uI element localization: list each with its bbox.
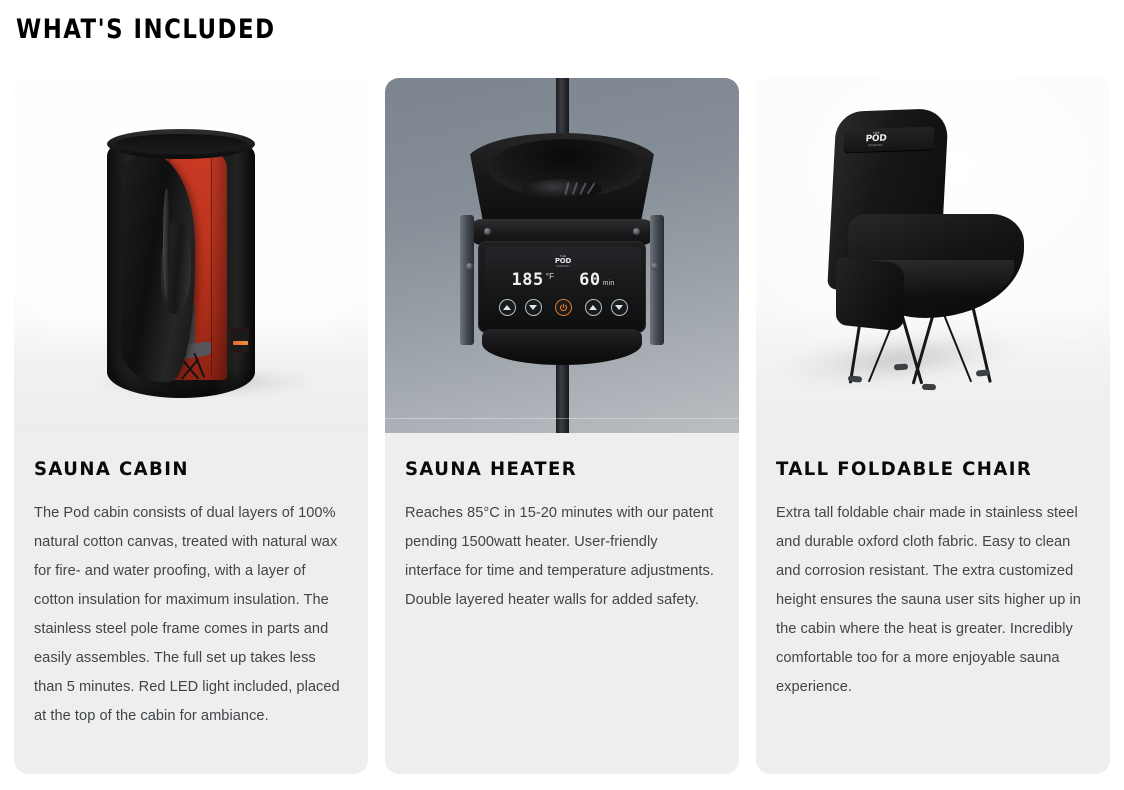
product-card-sauna-heater: THE POD COMPANY 185 °F 60 xyxy=(385,78,739,774)
chevron-up-icon xyxy=(503,305,511,310)
heater-button-row xyxy=(485,299,641,316)
chevron-up-icon xyxy=(589,305,597,310)
temperature-unit: °F xyxy=(546,272,555,281)
whats-included-section: WHAT'S INCLUDED xyxy=(0,0,1124,790)
temp-up-button[interactable] xyxy=(499,299,516,316)
cabin-top-rim xyxy=(107,129,255,159)
heater-brand-logo: THE POD COMPANY xyxy=(548,254,578,266)
sauna-heater-illustration: THE POD COMPANY 185 °F 60 xyxy=(462,133,662,368)
chair-foot xyxy=(894,364,908,371)
heater-brand-main: POD xyxy=(548,258,578,265)
floor-line xyxy=(385,418,739,419)
product-card-sauna-cabin: SAUNA CABIN The Pod cabin consists of du… xyxy=(14,78,368,774)
timer-unit: min xyxy=(603,280,615,287)
card-body: TALL FOLDABLE CHAIR Extra tall foldable … xyxy=(756,433,1110,774)
sauna-heater-image: THE POD COMPANY 185 °F 60 xyxy=(385,78,739,433)
chair-foot xyxy=(922,384,936,390)
heater-side-rail-left xyxy=(460,215,474,345)
cabin-door-flap xyxy=(121,154,195,382)
product-card-list: SAUNA CABIN The Pod cabin consists of du… xyxy=(14,78,1110,774)
page-title: WHAT'S INCLUDED xyxy=(16,13,276,47)
temperature-value: 185 xyxy=(511,271,543,289)
temp-down-button[interactable] xyxy=(525,299,542,316)
tall-foldable-chair-image: THE POD COMPANY xyxy=(756,78,1110,433)
power-icon xyxy=(559,303,568,312)
card-body: SAUNA HEATER Reaches 85°C in 15-20 minut… xyxy=(385,433,739,774)
card-title-sauna-heater: SAUNA HEATER xyxy=(405,457,703,481)
chair-side-pocket xyxy=(836,256,904,331)
chair-brand-logo: THE POD COMPANY xyxy=(853,130,898,149)
cabin-top-opening xyxy=(115,134,247,154)
heater-display-screen: THE POD COMPANY 185 °F 60 xyxy=(485,247,641,329)
card-description-tall-foldable-chair: Extra tall foldable chair made in stainl… xyxy=(776,499,1088,702)
screw-icon xyxy=(466,263,473,270)
card-description-sauna-heater: Reaches 85°C in 15-20 minutes with our p… xyxy=(405,499,717,615)
screw-icon xyxy=(484,228,491,235)
screw-icon xyxy=(651,263,658,270)
sauna-cabin-image xyxy=(14,78,368,433)
power-button[interactable] xyxy=(555,299,572,316)
chevron-down-icon xyxy=(529,305,537,310)
card-description-sauna-cabin: The Pod cabin consists of dual layers of… xyxy=(34,499,346,731)
card-title-sauna-cabin: SAUNA CABIN xyxy=(34,457,332,481)
product-card-tall-foldable-chair: THE POD COMPANY TALL FOLDABLE CHAIR Extr… xyxy=(756,78,1110,774)
chevron-down-icon xyxy=(615,305,623,310)
heater-brand-sub: COMPANY xyxy=(548,265,578,268)
card-body: SAUNA CABIN The Pod cabin consists of du… xyxy=(14,433,368,774)
screw-icon xyxy=(633,228,640,235)
time-down-button[interactable] xyxy=(611,299,628,316)
foldable-chair-illustration: THE POD COMPANY xyxy=(830,110,1030,390)
cabin-control-panel xyxy=(230,328,249,352)
timer-value: 60 xyxy=(579,271,600,289)
heater-base xyxy=(482,329,642,365)
heater-side-rail-right xyxy=(650,215,664,345)
cabin-door-edge xyxy=(163,188,170,300)
card-title-tall-foldable-chair: TALL FOLDABLE CHAIR xyxy=(776,457,1074,481)
temperature-readout: 185 °F xyxy=(511,271,554,289)
heater-control-panel[interactable]: THE POD COMPANY 185 °F 60 xyxy=(478,241,646,333)
timer-readout: 60 min xyxy=(579,271,614,289)
heater-fan xyxy=(522,179,602,199)
cabin-panel-led xyxy=(233,341,248,345)
sauna-cabin-illustration xyxy=(107,130,255,398)
time-up-button[interactable] xyxy=(585,299,602,316)
heater-readouts: 185 °F 60 min xyxy=(485,271,641,289)
